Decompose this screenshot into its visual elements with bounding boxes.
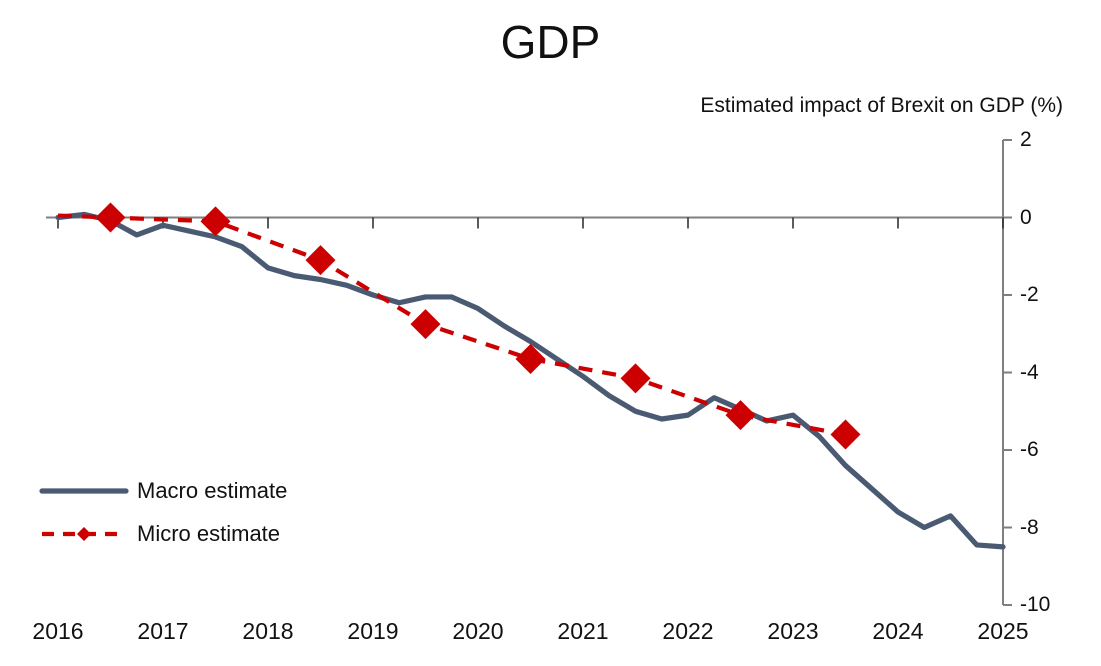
legend-label-2: Micro estimate (137, 523, 280, 545)
y-tick-label: 0 (1020, 207, 1032, 228)
micro-estimate-marker (306, 245, 336, 275)
x-tick-label: 2022 (628, 620, 748, 643)
micro-estimate-marker (831, 420, 861, 450)
micro-estimate-marker (201, 206, 231, 236)
legend-marker-2 (77, 527, 91, 541)
x-tick-label: 2017 (103, 620, 223, 643)
x-tick-label: 2018 (208, 620, 328, 643)
x-tick-label: 2016 (0, 620, 118, 643)
x-tick-label: 2025 (943, 620, 1063, 643)
gdp-brexit-impact-chart: GDP Estimated impact of Brexit on GDP (%… (0, 0, 1101, 666)
plot-area (0, 0, 1101, 666)
y-tick-label: 2 (1020, 129, 1032, 150)
x-tick-label: 2020 (418, 620, 538, 643)
y-tick-label: -2 (1020, 284, 1039, 305)
micro-estimate-marker (621, 363, 651, 393)
x-tick-label: 2024 (838, 620, 958, 643)
x-tick-label: 2023 (733, 620, 853, 643)
y-tick-label: -10 (1020, 594, 1050, 615)
micro-estimate-marker (411, 309, 441, 339)
x-tick-label: 2019 (313, 620, 433, 643)
y-tick-label: -4 (1020, 362, 1039, 383)
y-tick-label: -6 (1020, 439, 1039, 460)
legend-group (42, 491, 126, 541)
y-tick-label: -8 (1020, 517, 1039, 538)
x-tick-label: 2021 (523, 620, 643, 643)
legend-label-1: Macro estimate (137, 480, 287, 502)
